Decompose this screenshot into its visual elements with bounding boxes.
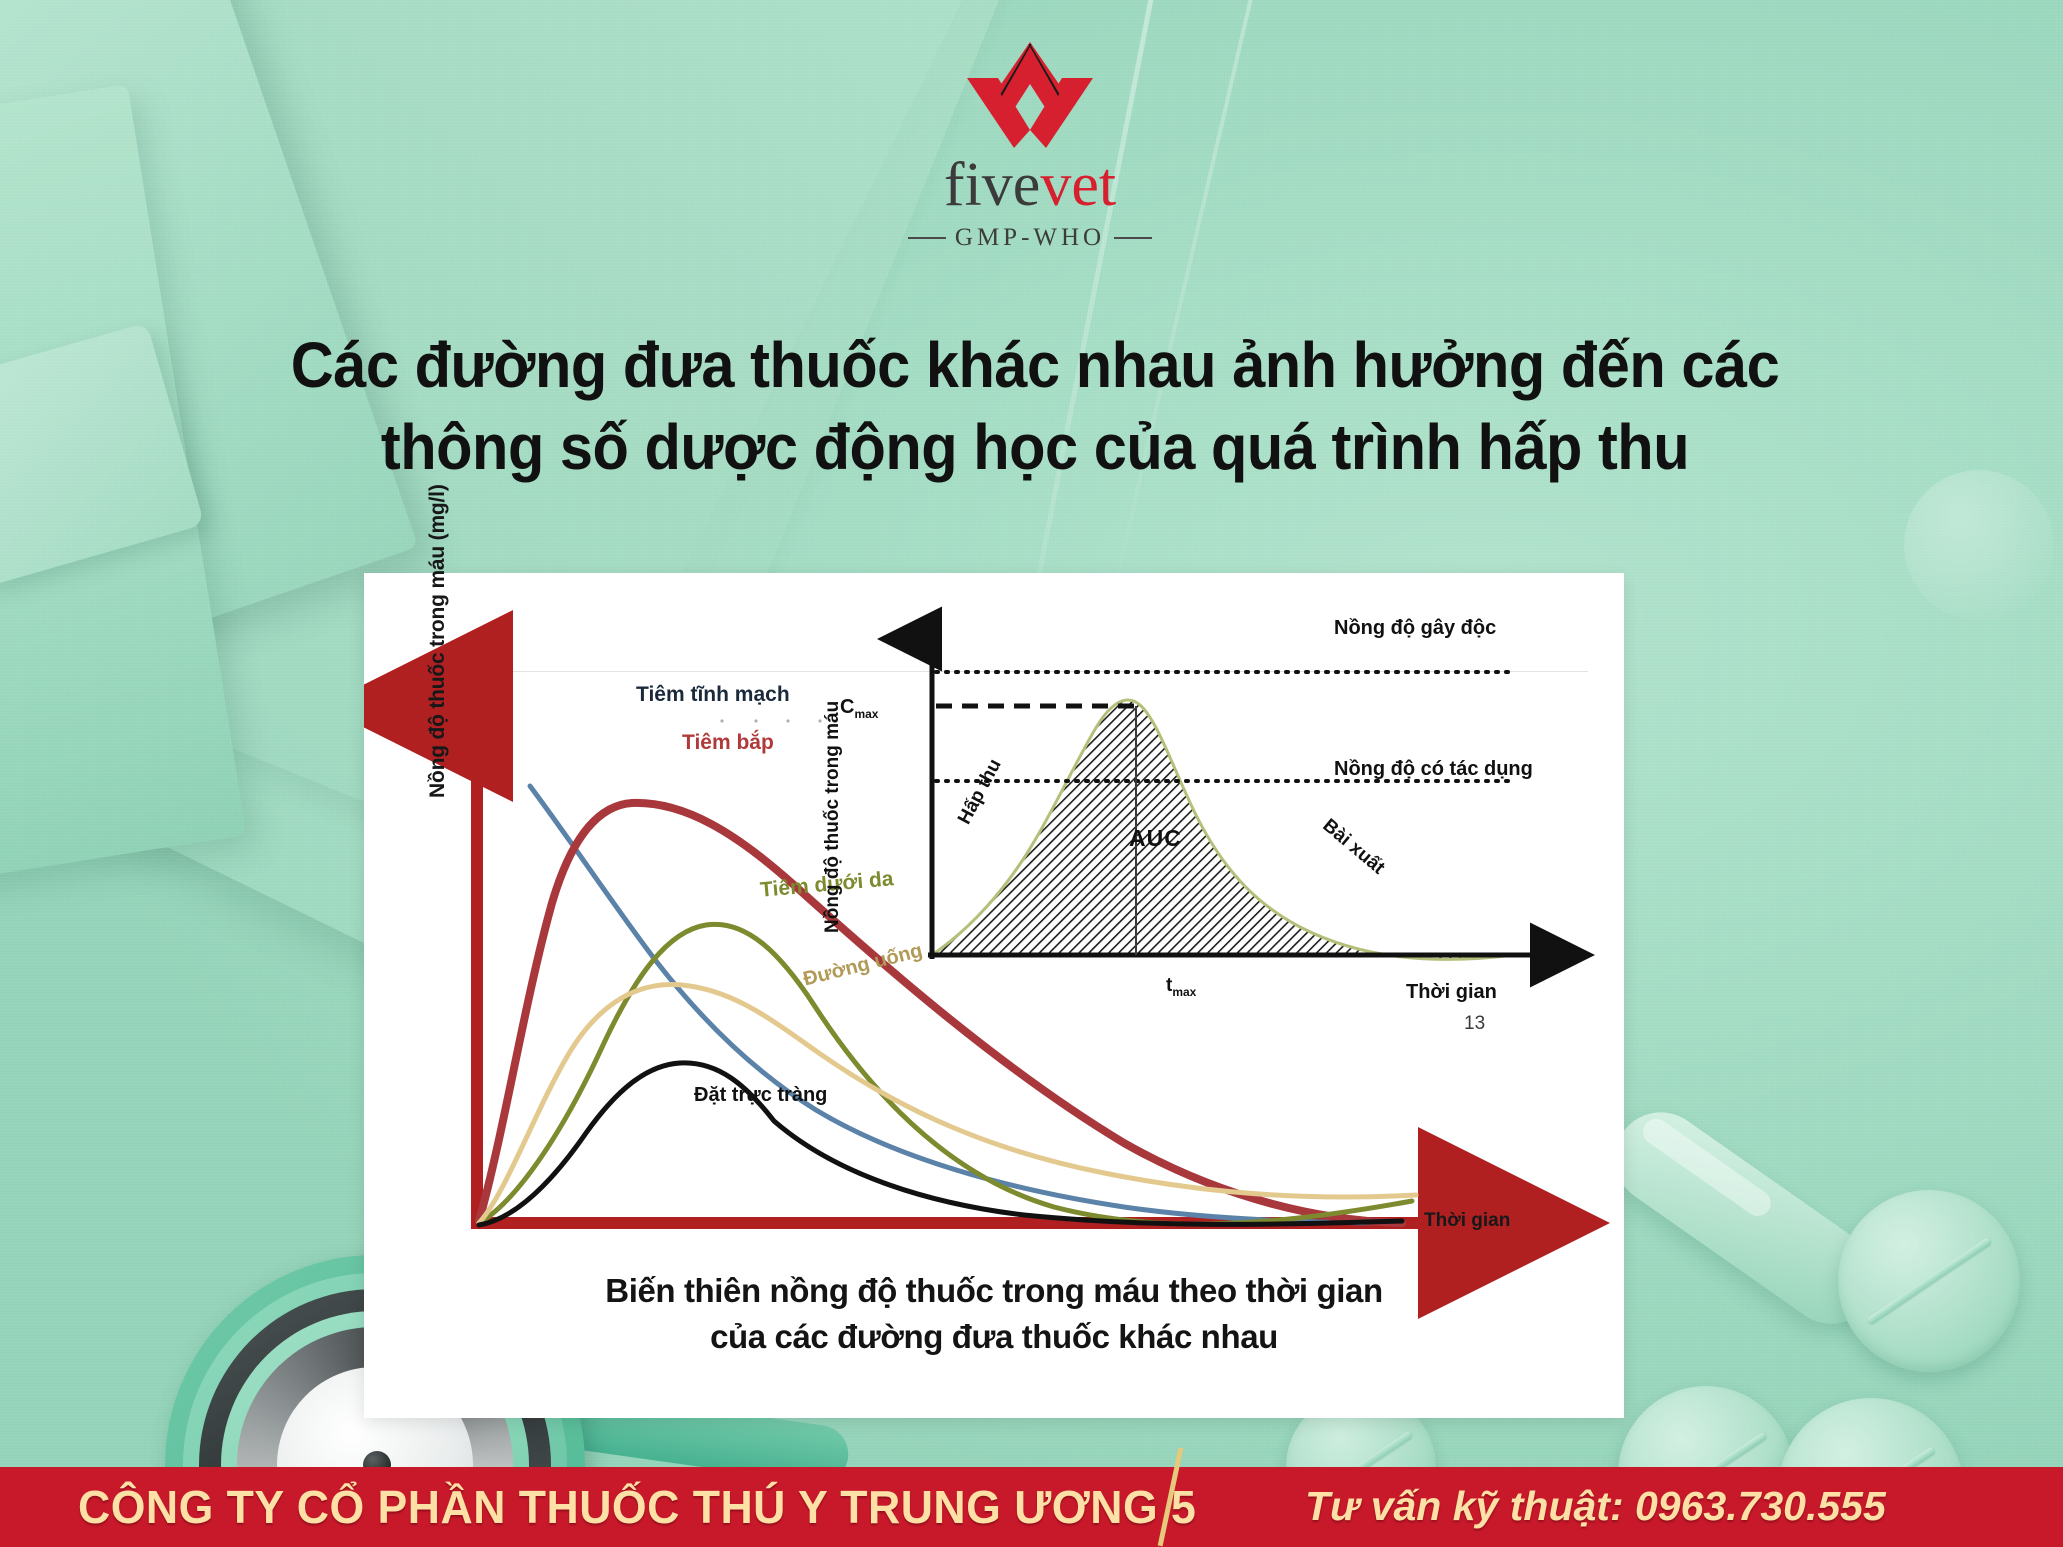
page-title-line-2: thông số dược động học của quá trình hấp… <box>184 407 1886 489</box>
slide-canvas: fivevet GMP-WHO Các đường đưa thuốc khác… <box>0 0 2063 1547</box>
figure-caption-line-1: Biến thiên nồng độ thuốc trong máu theo … <box>364 1268 1624 1314</box>
company-name: CÔNG TY CỔ PHẦN THUỐC THÚ Y TRUNG ƯƠNG 5 <box>78 1480 1067 1534</box>
main-plot-x-axis-label: Thời gian <box>1424 1210 1510 1232</box>
tmax-label: tmax <box>1166 975 1196 999</box>
inset-x-axis-label: Thời gian <box>1406 981 1497 1004</box>
inset-y-axis-label: Nồng độ thuốc trong máu <box>822 701 844 933</box>
brand-name-part1: five <box>944 151 1040 219</box>
curve-label-tiem-tinh-mach: Tiêm tĩnh mạch <box>636 683 790 707</box>
curve-label-tiem-bap: Tiêm bắp <box>682 731 774 755</box>
brand-wordmark: fivevet <box>815 154 1245 216</box>
page-title: Các đường đưa thuốc khác nhau ảnh hưởng … <box>184 325 1886 489</box>
auc-area <box>932 700 1514 959</box>
brand-certification-label: GMP-WHO <box>955 224 1105 252</box>
curve-label-dat-truc-trang: Đặt trực tràng <box>694 1084 827 1107</box>
cmax-label: Cmax <box>840 696 878 721</box>
figure-card: Nồng độ thuốc trong máu (mg/l) Tiêm tĩnh… <box>364 573 1624 1418</box>
iv-label-dots <box>720 719 821 722</box>
brand-logo: fivevet GMP-WHO <box>815 40 1245 280</box>
hotline-text: Tư vấn kỹ thuật: 0963.730.555 <box>1305 1483 2045 1530</box>
inset-auc-chart: Nồng độ gây độc Nồng độ có tác dụng Cmax… <box>814 603 1599 1023</box>
figure-caption: Biến thiên nồng độ thuốc trong máu theo … <box>364 1268 1624 1359</box>
main-plot-y-axis-label: Nồng độ thuốc trong máu (mg/l) <box>426 498 452 798</box>
auc-label: AUC <box>1129 825 1182 852</box>
tablet-icon-1 <box>1838 1190 2020 1372</box>
background-pill-faint <box>1904 470 2054 620</box>
figure-caption-line-2: của các đường đưa thuốc khác nhau <box>364 1314 1624 1360</box>
rule-left <box>908 237 946 239</box>
rule-right <box>1114 237 1152 239</box>
brand-certification: GMP-WHO <box>815 224 1245 252</box>
brand-name-part2: vet <box>1040 151 1116 219</box>
effective-threshold-label: Nồng độ có tác dụng <box>1334 758 1533 781</box>
page-title-line-1: Các đường đưa thuốc khác nhau ảnh hưởng … <box>184 325 1886 407</box>
fivevet-chevron-logo-icon <box>930 40 1130 150</box>
inset-auc-svg <box>814 603 1599 1023</box>
toxic-threshold-label: Nồng độ gây độc <box>1334 617 1496 640</box>
page-number: 13 <box>1464 1013 1485 1035</box>
